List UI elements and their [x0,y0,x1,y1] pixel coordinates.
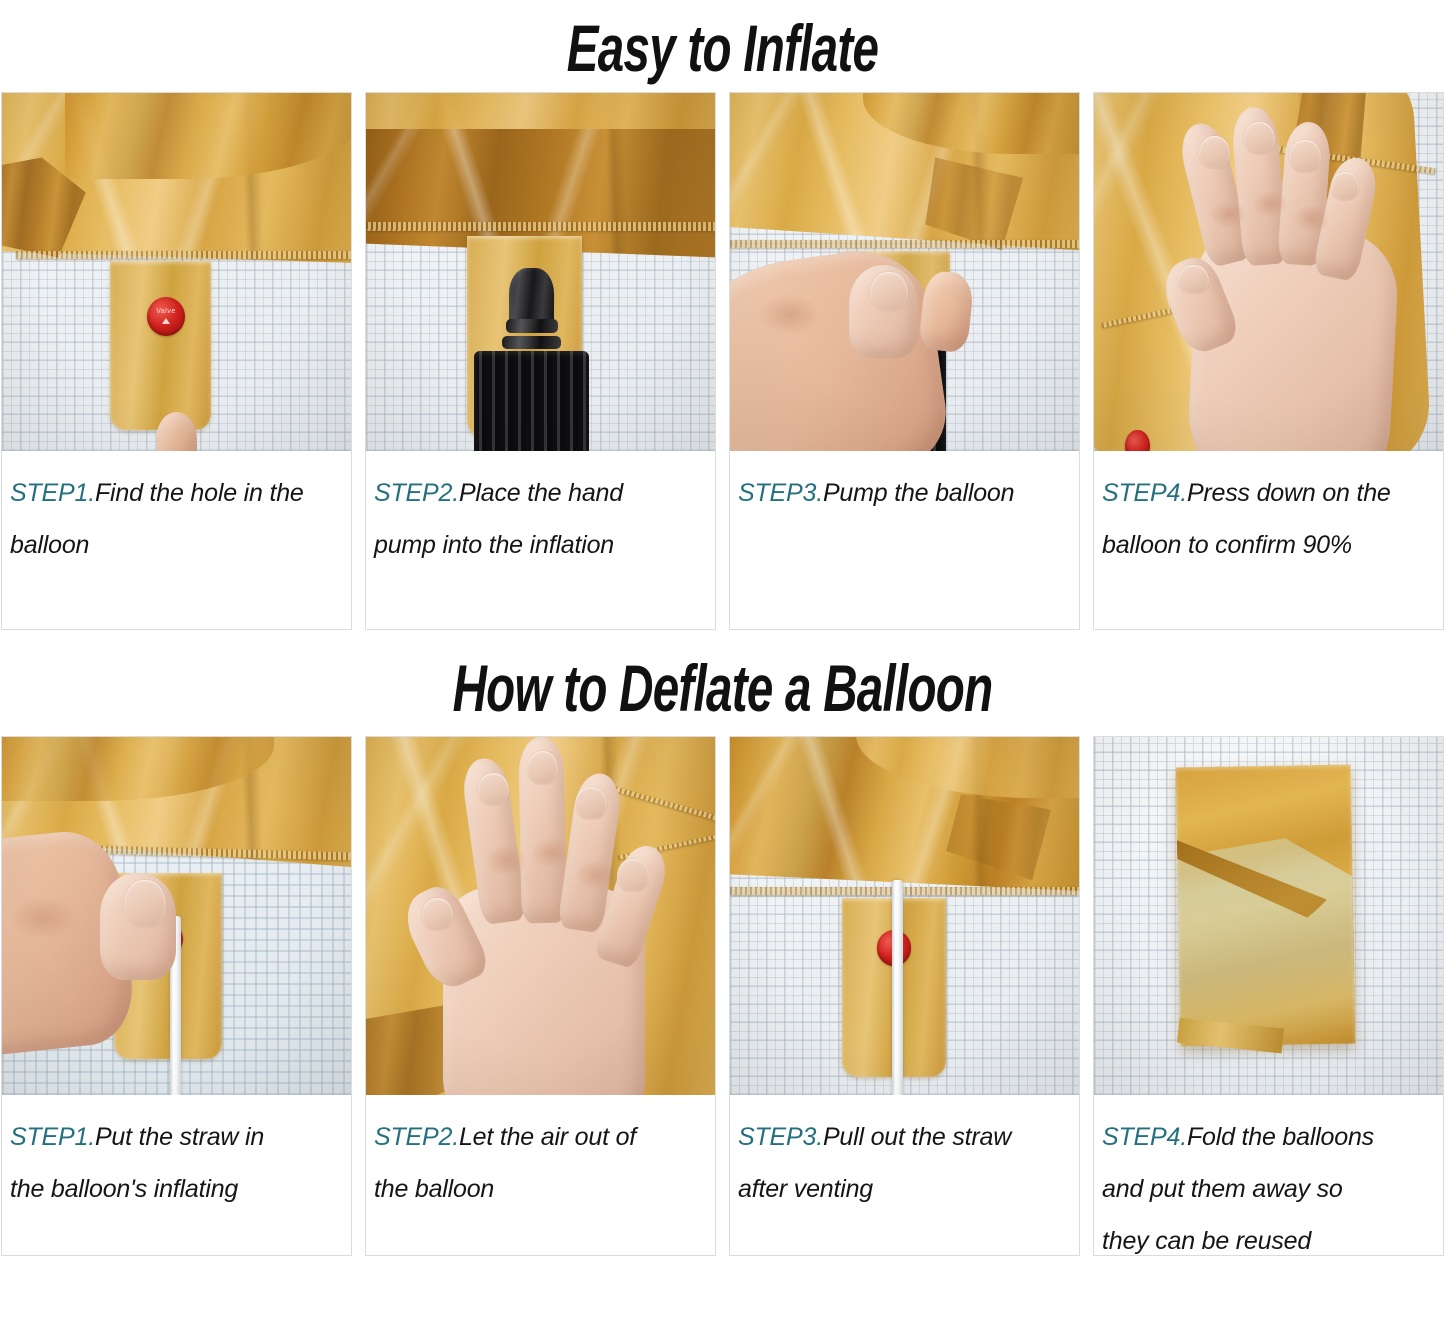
balloon-seam [730,240,1079,248]
knuckle-1 [485,844,527,876]
step-caption-inflate-1: STEP1.Find the hole in the balloon [2,451,351,629]
step-text-line2: balloon to confirm 90% [1102,519,1435,571]
knuckle-3 [1293,204,1331,233]
section-heading-deflate: How to Deflate a Balloon [202,655,1242,721]
step-text-line1: Pull out the straw [823,1123,1011,1151]
step-text-line2: and put them away so [1102,1163,1435,1215]
step-text-line1: Let the air out of [459,1123,636,1151]
pump-nozzle-ring [506,319,558,333]
nail-pinky [617,859,648,891]
step-card-inflate-1: Valve STEP1.Find the hole in the balloon [1,92,352,630]
balloon-seam [730,887,1079,895]
step-caption-deflate-1: STEP1.Put the straw in the balloon's inf… [2,1095,351,1255]
photo-straw-into-valve [2,737,351,1095]
nail-index [1199,136,1230,168]
pump-nozzle-tip [509,268,554,325]
section-heading-inflate: Easy to Inflate [202,15,1242,81]
pump-body [474,351,589,451]
step-label: STEP3. [738,1123,823,1151]
step-label: STEP3. [738,479,823,507]
step-caption-deflate-3: STEP3.Pull out the straw after venting [730,1095,1079,1255]
valve-tab [110,261,211,429]
photo-straw-in-deflated-valve [730,737,1079,1095]
thumb-nail [124,880,166,927]
step-label: STEP1. [10,1123,95,1151]
nail-middle [527,751,558,783]
step-text-line2: the balloon's inflating [10,1163,343,1215]
step-text-line2: the balloon [374,1163,707,1215]
step-text-line2: after venting [738,1163,1071,1215]
nail-ring [1289,140,1320,172]
step-label: STEP1. [10,479,95,507]
valve-arrow-icon [162,318,170,324]
knuckle-3 [575,859,617,891]
nail-index [478,773,509,805]
step-card-deflate-4: STEP4.Fold the balloons and put them awa… [1093,736,1444,1256]
photo-pump-into-valve [366,93,715,451]
infographic-page: Easy to Inflate Valve [0,0,1445,1321]
step-card-inflate-4: STEP4.Press down on the balloon to confi… [1093,92,1444,630]
step-text-line3: they can be reused [1102,1215,1435,1256]
step-caption-inflate-3: STEP3.Pump the balloon [730,451,1079,629]
step-label: STEP2. [374,1123,459,1151]
step-card-inflate-3: STEP3.Pump the balloon [729,92,1080,630]
straw [892,880,903,1095]
section-heading-inflate-wrapper: Easy to Inflate [0,0,1445,92]
step-label: STEP2. [374,479,459,507]
step-label: STEP4. [1102,479,1187,507]
knuckle-1 [1209,200,1247,229]
nail-middle [1244,122,1275,154]
step-caption-inflate-2: STEP2.Place the hand pump into the infla… [366,451,715,629]
photo-hand-pumping-balloon [730,93,1079,451]
photo-hand-pressing-deflating-balloon [366,737,715,1095]
inflate-step-row: Valve STEP1.Find the hole in the balloon [0,92,1445,630]
step-label: STEP4. [1102,1123,1187,1151]
folded-balloon-packet [1175,764,1354,1046]
photo-hand-pressing-inflated-balloon [1094,93,1443,451]
pump-nozzle-ring-2 [502,336,561,349]
knuckle-shading [758,293,821,336]
deflate-step-row: STEP1.Put the straw in the balloon's inf… [0,736,1445,1256]
balloon-seam [16,251,351,259]
balloon-top-band [366,93,715,129]
knuckle-shading [9,895,79,942]
balloon-seam [366,222,715,231]
nail-pinky [1331,172,1359,201]
step-text-line1: Pump the balloon [823,479,1014,507]
step-text-line1: Find the hole in the [95,479,304,507]
step-caption-inflate-4: STEP4.Press down on the balloon to confi… [1094,451,1443,629]
step-text-line2: balloon [10,519,343,571]
nail-thumb [422,898,453,930]
step-text-line1: Put the straw in [95,1123,264,1151]
valve-sticker-label: Valve [147,308,185,315]
step-caption-deflate-4: STEP4.Fold the balloons and put them awa… [1094,1095,1443,1256]
step-text-line2: pump into the inflation [374,519,707,571]
section-heading-deflate-wrapper: How to Deflate a Balloon [0,630,1445,736]
photo-folded-balloon-packet [1094,737,1443,1095]
packet-sheen [1175,764,1354,1046]
step-card-deflate-1: STEP1.Put the straw in the balloon's inf… [1,736,352,1256]
photo-balloon-valve-closeup: Valve [2,93,351,451]
step-text-line1: Place the hand [459,479,623,507]
nail-thumb [1178,265,1209,294]
step-text-line1: Fold the balloons [1187,1123,1374,1151]
step-card-deflate-3: STEP3.Pull out the straw after venting [729,736,1080,1256]
step-card-deflate-2: STEP2.Let the air out of the balloon [365,736,716,1256]
step-text-line1: Press down on the [1187,479,1391,507]
thumb-nail [870,272,908,311]
step-caption-deflate-2: STEP2.Let the air out of the balloon [366,1095,715,1255]
nail-ring [575,787,606,819]
step-card-inflate-2: STEP2.Place the hand pump into the infla… [365,92,716,630]
